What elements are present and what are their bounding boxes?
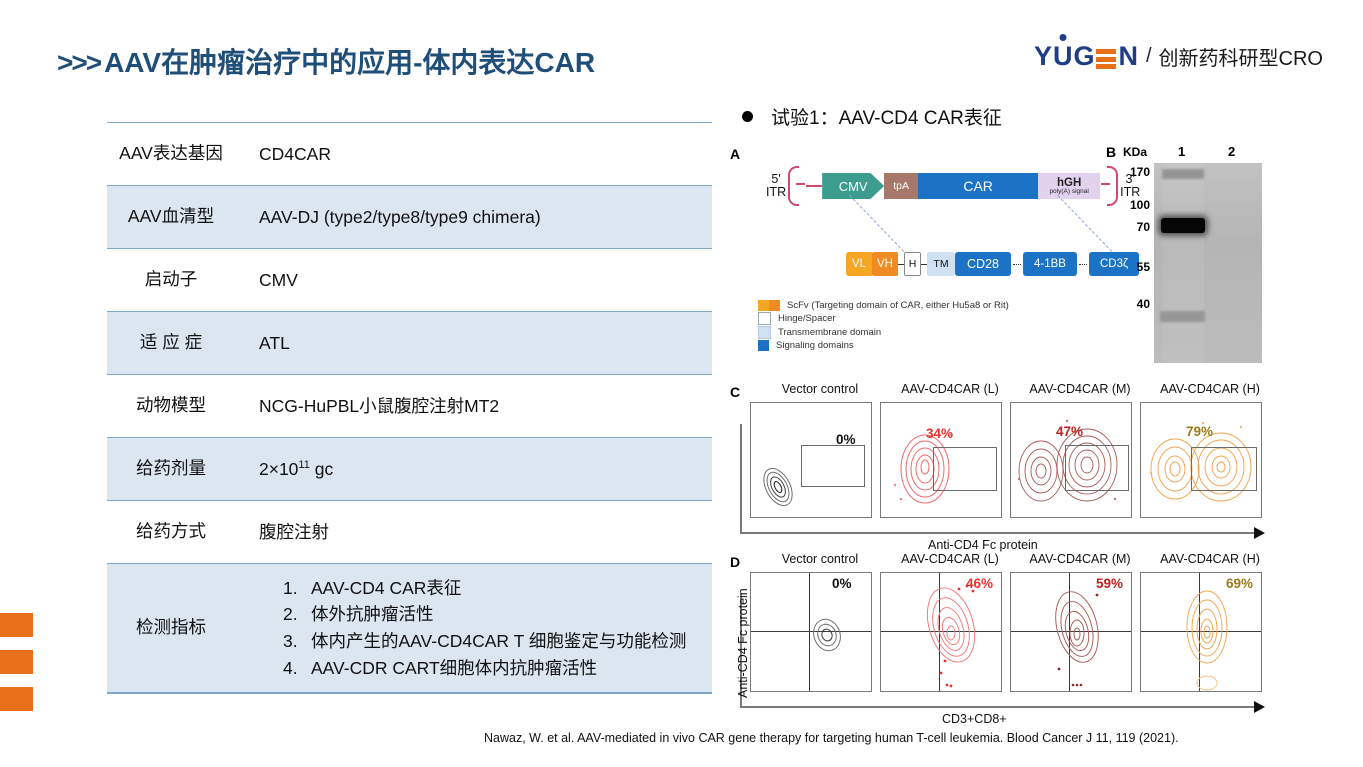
panel-c-percent-0: 0% xyxy=(836,432,856,447)
list-item-number: 4. xyxy=(283,655,305,682)
panel-d-y-axis-label: Anti-CD4 Fc protein xyxy=(736,588,750,698)
panel-c-label: C xyxy=(730,384,740,400)
gene-box-hgh: hGH poly(A) signal xyxy=(1038,173,1100,199)
table-row-key: AAV表达基因 xyxy=(107,142,235,166)
list-item-number: 3. xyxy=(283,628,305,655)
table-row-key: 给药方式 xyxy=(107,520,235,544)
panel-c-x-axis xyxy=(740,532,1256,534)
panel-c-title-1: AAV-CD4CAR (L) xyxy=(880,382,1020,396)
blot-lane-2-label: 2 xyxy=(1228,144,1235,159)
list-item-text: AAV-CD4 CAR表征 xyxy=(311,575,712,602)
panel-d-x-axis-label: CD3+CD8+ xyxy=(942,712,1007,726)
page-title: >>>AAV在肿瘤治疗中的应用-体内表达CAR xyxy=(57,41,595,81)
panel-c-plot-0 xyxy=(750,402,872,518)
table-row: 给药剂量 2×1011 gc xyxy=(107,437,712,501)
domain-connector xyxy=(1079,264,1087,265)
swatch-signaling-icon xyxy=(758,340,769,351)
brand-separator: / xyxy=(1146,45,1152,68)
orange-bar xyxy=(0,650,33,674)
table-row-value: CMV xyxy=(235,268,712,293)
experiment-heading-text: 试验1：AAV-CD4 CAR表征 xyxy=(771,103,1002,130)
panel-c-title-0: Vector control xyxy=(750,382,890,396)
panel-c-plot-2 xyxy=(1010,402,1132,518)
panel-c: C Vector control AAV-CD4CAR (L) AAV-CD4C… xyxy=(728,380,1288,550)
blot-marker-170: 170 xyxy=(1116,165,1150,179)
table-row: 适 应 症 ATL xyxy=(107,311,712,375)
table-row: AAV血清型 AAV-DJ (type2/type8/type9 chimera… xyxy=(107,185,712,249)
backbone-line xyxy=(806,185,822,187)
panel-d-label: D xyxy=(730,554,740,570)
domain-box-vh: VH xyxy=(872,252,898,276)
panel-d-percent-2: 59% xyxy=(1096,576,1123,591)
table-row-key: 适 应 症 xyxy=(107,331,235,355)
list-item: 1.AAV-CD4 CAR表征 xyxy=(283,575,712,602)
decor-orange-bars xyxy=(0,613,33,724)
hgh-main: hGH xyxy=(1057,177,1081,189)
domain-box-hinge: H xyxy=(904,252,921,276)
table-row-key: 检测指标 xyxy=(107,616,235,640)
table-row-key: 启动子 xyxy=(107,268,235,292)
orange-bar xyxy=(0,613,33,637)
swatch-hinge-icon xyxy=(758,312,771,325)
blot-unit-label: KDa xyxy=(1123,145,1147,159)
panel-d-title-0: Vector control xyxy=(750,552,890,566)
table-row: 给药方式 腹腔注射 xyxy=(107,501,712,563)
legend-label: ScFv (Targeting domain of CAR, either Hu… xyxy=(787,300,1009,311)
panel-d-percent-3: 69% xyxy=(1226,576,1253,591)
panel-c-gate-2 xyxy=(1065,445,1129,491)
legend-item: Hinge/Spacer xyxy=(758,312,1009,325)
panel-c-gate-3 xyxy=(1191,447,1257,491)
list-item: 2.体外抗肿瘤活性 xyxy=(283,601,712,628)
panel-c-title-3: AAV-CD4CAR (H) xyxy=(1140,382,1280,396)
title-text: AAV在肿瘤治疗中的应用-体内表达CAR xyxy=(104,47,595,78)
domain-box-vl: VL xyxy=(846,252,872,276)
dose-exponent: 11 xyxy=(298,459,309,471)
panel-c-percent-2: 47% xyxy=(1056,424,1083,439)
list-item: 3.体内产生的AAV-CD4CAR T 细胞鉴定与功能检测 xyxy=(283,628,712,655)
spec-table: AAV表达基因 CD4CAR AAV血清型 AAV-DJ (type2/type… xyxy=(107,122,712,694)
panel-c-title-2: AAV-CD4CAR (M) xyxy=(1010,382,1150,396)
legend-label: Hinge/Spacer xyxy=(778,313,836,324)
gene-box-car: CAR xyxy=(918,173,1038,199)
panel-c-gate-1 xyxy=(933,447,997,491)
panel-d-x-axis xyxy=(740,706,1256,708)
gene-box-tpa: tpA xyxy=(884,173,918,199)
citation: Nawaz, W. et al. AAV-mediated in vivo CA… xyxy=(484,731,1179,745)
table-row-key: 给药剂量 xyxy=(107,457,235,481)
list-item-number: 2. xyxy=(283,601,305,628)
itr-left-icon xyxy=(787,166,805,206)
brand-tagline: 创新药科研型CRO xyxy=(1159,42,1323,71)
panel-a-label: A xyxy=(730,146,740,162)
table-row-value: CD4CAR xyxy=(235,142,712,167)
panel-c-plot-3 xyxy=(1140,402,1262,518)
aav-construct-top: 5' ITR CMV tpA CAR hGH poly(A) signal 3'… xyxy=(766,166,1140,206)
blot-marker-100: 100 xyxy=(1116,198,1150,212)
legend-item: ScFv (Targeting domain of CAR, either Hu… xyxy=(758,300,1009,311)
panel-d-percent-0: 0% xyxy=(832,576,852,591)
table-row-value: 1.AAV-CD4 CAR表征 2.体外抗肿瘤活性 3.体内产生的AAV-CD4… xyxy=(235,575,712,681)
list-item: 4.AAV-CDR CART细胞体内抗肿瘤活性 xyxy=(283,655,712,682)
yugen-logo: YUGN xyxy=(1034,43,1139,70)
panel-c-percent-1: 34% xyxy=(926,426,953,441)
domain-box-41bb: 4-1BB xyxy=(1023,252,1077,276)
logo-e-bars-icon xyxy=(1096,48,1116,70)
legend-item: Transmembrane domain xyxy=(758,326,1009,339)
table-row-key: AAV血清型 xyxy=(107,205,235,229)
blot-marker-40: 40 xyxy=(1116,297,1150,311)
blot-marker-70: 70 xyxy=(1116,220,1150,234)
swatch-tm-icon xyxy=(758,326,771,339)
panel-a-legend: ScFv (Targeting domain of CAR, either Hu… xyxy=(758,300,1009,352)
panel-c-gate-0 xyxy=(801,445,865,487)
table-row-key: 动物模型 xyxy=(107,394,235,418)
experiment-heading: 试验1：AAV-CD4 CAR表征 xyxy=(742,103,1002,130)
panel-c-percent-3: 79% xyxy=(1186,424,1213,439)
slide: >>>AAV在肿瘤治疗中的应用-体内表达CAR YUGN / 创新药科研型CRO… xyxy=(0,0,1363,767)
dose-suffix: gc xyxy=(310,459,333,479)
panel-d-title-3: AAV-CD4CAR (H) xyxy=(1140,552,1280,566)
table-row: 动物模型 NCG-HuPBL小鼠腹腔注射MT2 xyxy=(107,375,712,437)
list-item-text: 体外抗肿瘤活性 xyxy=(311,601,712,628)
car-domain-map: VL VH H TM CD28 4-1BB CD3ζ xyxy=(846,252,1139,276)
flow-dot-vector-control-d xyxy=(751,573,871,691)
list-item-number: 1. xyxy=(283,575,305,602)
bullet-dot-icon xyxy=(742,111,753,122)
panel-d-title-2: AAV-CD4CAR (M) xyxy=(1010,552,1150,566)
blot-image xyxy=(1154,163,1262,363)
blot-band-primary xyxy=(1161,218,1205,233)
panel-b-label: B xyxy=(1106,144,1116,160)
table-row: AAV表达基因 CD4CAR xyxy=(107,123,712,185)
blot-lane-1-label: 1 xyxy=(1178,144,1185,159)
table-row-value: NCG-HuPBL小鼠腹腔注射MT2 xyxy=(235,394,712,419)
blot-band-faint-bottom xyxy=(1160,311,1205,322)
figure: A 5' ITR CMV tpA CAR hGH poly(A) signal … xyxy=(728,140,1328,300)
panel-d-title-1: AAV-CD4CAR (L) xyxy=(880,552,1020,566)
table-row-value: 腹腔注射 xyxy=(235,520,712,545)
list-item-text: AAV-CDR CART细胞体内抗肿瘤活性 xyxy=(311,655,712,682)
domain-box-cd28: CD28 xyxy=(955,252,1011,276)
blot-marker-55: 55 xyxy=(1116,260,1150,274)
domain-box-tm: TM xyxy=(927,252,955,276)
metrics-list: 1.AAV-CD4 CAR表征 2.体外抗肿瘤活性 3.体内产生的AAV-CD4… xyxy=(259,575,712,681)
panel-c-plot-1 xyxy=(880,402,1002,518)
hgh-sub: poly(A) signal xyxy=(1049,189,1088,196)
table-row-metrics: 检测指标 1.AAV-CD4 CAR表征 2.体外抗肿瘤活性 3.体内产生的AA… xyxy=(107,563,712,693)
legend-item: Signaling domains xyxy=(758,340,1009,351)
dot-icon xyxy=(1060,34,1067,41)
table-row-value: ATL xyxy=(235,331,712,356)
gene-box-cmv: CMV xyxy=(822,173,884,199)
domain-connector xyxy=(1013,264,1021,265)
swatch-scfv-icon xyxy=(758,300,780,311)
panel-c-x-axis-arrow-icon xyxy=(1254,527,1265,539)
table-row-value-dose: 2×1011 gc xyxy=(235,457,712,482)
itr-left-label: 5' ITR xyxy=(766,173,786,200)
brand-lockup: YUGN / 创新药科研型CRO xyxy=(1034,42,1323,71)
table-row-value: AAV-DJ (type2/type8/type9 chimera) xyxy=(235,205,712,230)
panel-d-plot-0 xyxy=(750,572,872,692)
blot-band-faint-top xyxy=(1162,169,1204,179)
panel-d-percent-1: 46% xyxy=(966,576,993,591)
panel-b: B KDa 1 2 170 100 70 55 40 xyxy=(1106,140,1286,368)
orange-bar xyxy=(0,687,33,711)
legend-label: Transmembrane domain xyxy=(778,327,881,338)
logo-u-with-dot: U xyxy=(1053,43,1074,70)
panel-d-x-axis-arrow-icon xyxy=(1254,701,1265,713)
chevron-prefix: >>> xyxy=(57,47,100,78)
blot-lane-1 xyxy=(1162,163,1204,363)
legend-label: Signaling domains xyxy=(776,340,854,351)
table-row: 启动子 CMV xyxy=(107,249,712,311)
list-item-text: 体内产生的AAV-CD4CAR T 细胞鉴定与功能检测 xyxy=(311,628,712,655)
panel-c-y-axis xyxy=(740,424,742,534)
panel-d: D Vector control AAV-CD4CAR (L) AAV-CD4C… xyxy=(728,550,1288,728)
dose-prefix: 2×10 xyxy=(259,459,298,479)
